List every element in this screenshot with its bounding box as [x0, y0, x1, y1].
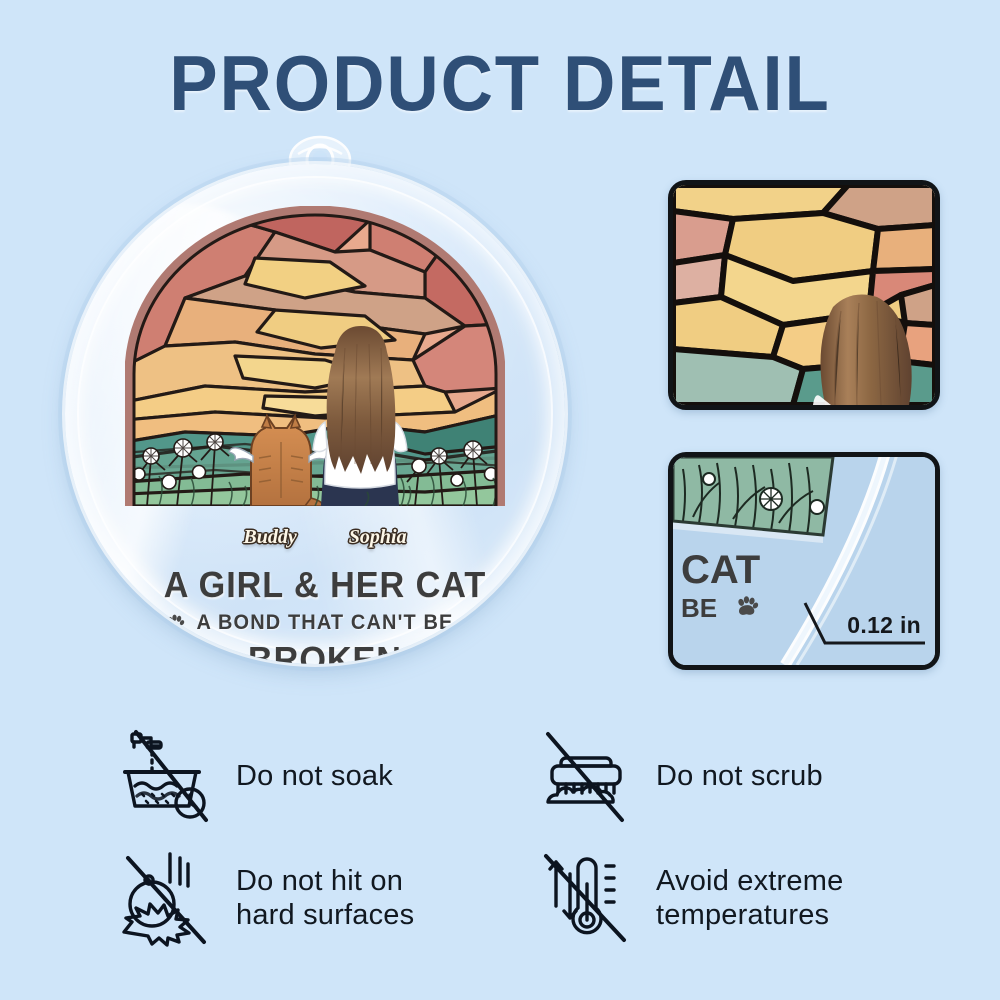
person-name-label: Sophia: [349, 526, 407, 549]
no-soak-icon: [114, 724, 218, 828]
stained-glass-closeup-panel: [668, 180, 940, 410]
care-label: Avoid extreme temperatures: [656, 864, 843, 932]
svg-text:CAT: CAT: [681, 548, 760, 592]
paw-print-icon: [465, 613, 485, 634]
care-item-no-scrub: Do not scrub: [534, 724, 823, 828]
care-instructions-section: Do not soak Do not scrub: [100, 718, 940, 980]
thickness-closeup-panel: CAT BE 0.12 in: [668, 452, 940, 670]
main-product-image: Buddy Sophia A GIRL & HER CAT A BOND THA…: [55, 128, 585, 688]
care-item-no-soak: Do not soak: [114, 724, 393, 828]
svg-text:BE: BE: [681, 593, 717, 623]
care-item-no-temperature: Avoid extreme temperatures: [534, 846, 843, 950]
care-label-line2: hard surfaces: [236, 899, 414, 931]
headline-line-1: A GIRL & HER CAT: [78, 564, 565, 606]
care-label: Do not soak: [236, 759, 393, 793]
care-label-line1: Do not hit on: [236, 865, 403, 897]
paw-print-icon: [165, 613, 185, 634]
no-impact-icon: [114, 846, 218, 950]
page-title: PRODUCT DETAIL: [35, 38, 965, 129]
product-detail-page: PRODUCT DETAIL: [0, 0, 1000, 1000]
stained-glass-artwork: [125, 206, 505, 506]
product-headline: A GIRL & HER CAT A BOND THAT CAN'T BE: [65, 564, 565, 664]
headline-line-3: BROKEN: [78, 639, 565, 664]
acrylic-disc: Buddy Sophia A GIRL & HER CAT A BOND THA…: [65, 164, 565, 664]
pet-name-label: Buddy: [243, 526, 296, 549]
no-temperature-icon: [534, 846, 638, 950]
thickness-measurement: 0.12 in: [847, 612, 921, 639]
headline-line-2: A BOND THAT CAN'T BE: [197, 611, 454, 635]
no-scrub-icon: [534, 724, 638, 828]
care-label-line2: temperatures: [656, 899, 829, 931]
care-label: Do not scrub: [656, 759, 823, 793]
headline-line-2-row: A BOND THAT CAN'T BE: [78, 611, 565, 635]
care-item-no-impact: Do not hit on hard surfaces: [114, 846, 414, 950]
personalized-names: Buddy Sophia: [65, 526, 565, 549]
care-label: Do not hit on hard surfaces: [236, 864, 414, 932]
care-label-line1: Avoid extreme: [656, 865, 843, 897]
